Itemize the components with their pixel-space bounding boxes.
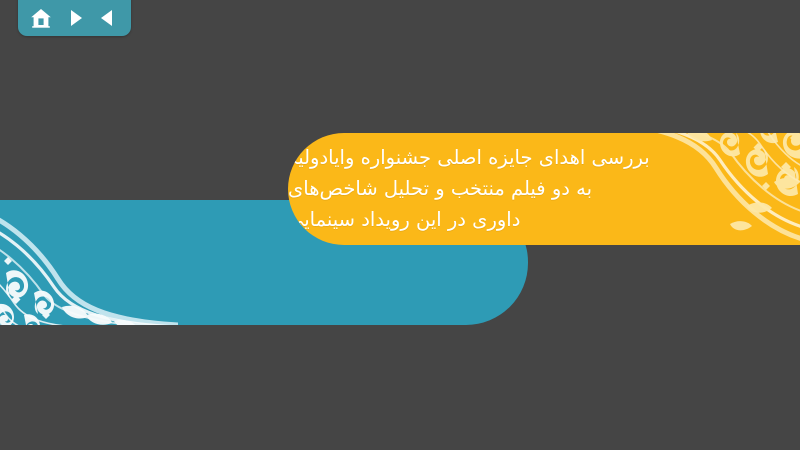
- home-icon: [30, 8, 52, 29]
- forward-icon: [65, 8, 85, 28]
- yellow-headline-panel: بررسی اهدای جایزه اصلی جشنواره وایادولید…: [288, 133, 800, 245]
- navigation-toolbar: [18, 0, 131, 36]
- headline-line-2: به دو فیلم منتخب و تحلیل شاخص‌های: [288, 173, 592, 204]
- home-button[interactable]: [29, 6, 53, 30]
- headline-text-block: بررسی اهدای جایزه اصلی جشنواره وایادولید…: [288, 133, 800, 245]
- headline-line-1: بررسی اهدای جایزه اصلی جشنواره وایادولید: [288, 142, 650, 173]
- slide-canvas: بررسی اهدای جایزه اصلی جشنواره وایادولید…: [0, 0, 800, 450]
- arabesque-ornament-teal: [0, 200, 178, 325]
- headline-line-3: داوری در این رویداد سینمایی: [288, 204, 520, 235]
- back-button[interactable]: [96, 6, 120, 30]
- back-icon: [98, 8, 118, 28]
- forward-button[interactable]: [63, 6, 87, 30]
